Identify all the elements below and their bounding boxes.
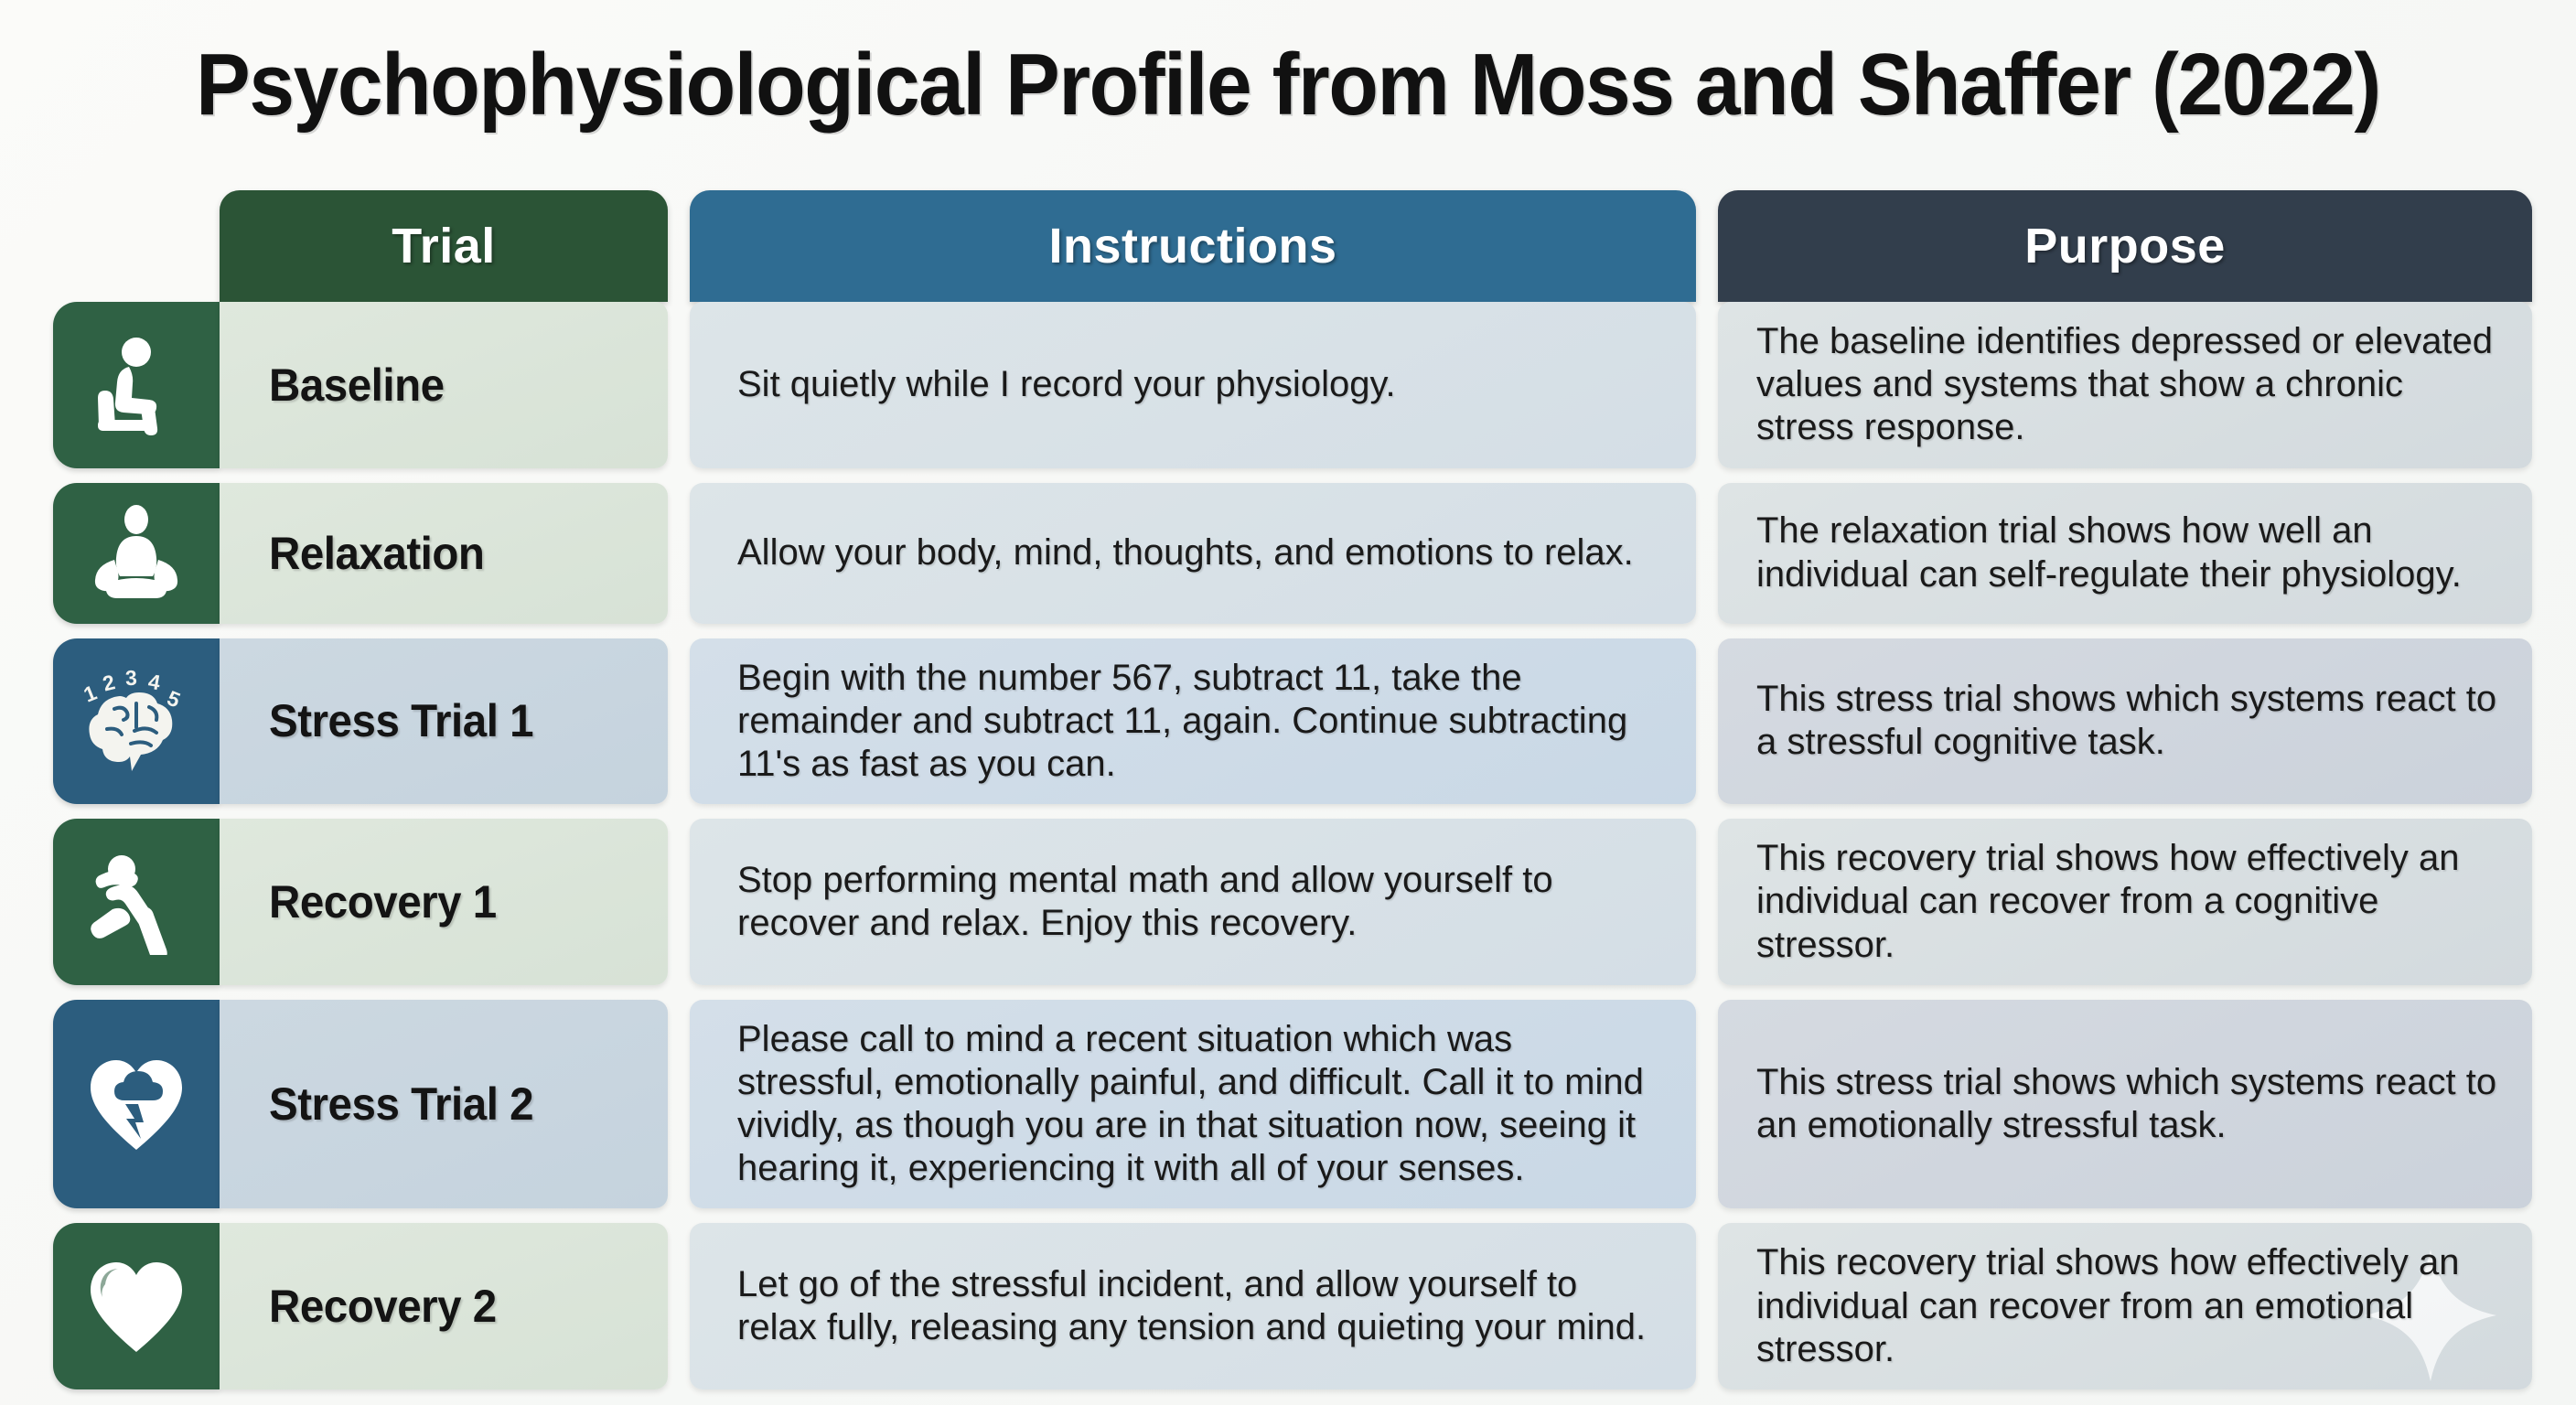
cell-gap	[1696, 1223, 1718, 1389]
instructions-cell: Sit quietly while I record your physiolo…	[690, 302, 1696, 468]
heart-storm-icon	[53, 1000, 220, 1209]
svg-text:3: 3	[124, 666, 137, 691]
trial-label-cell: Baseline	[220, 302, 668, 468]
brain-counting-icon: 1 2 3 4 5	[53, 638, 220, 805]
table-row: Relaxation Allow your body, mind, though…	[53, 483, 2532, 624]
trial-label-cell: Relaxation	[220, 483, 668, 624]
table-row: Stress Trial 2 Please call to mind a rec…	[53, 1000, 2532, 1209]
instructions-text: Stop performing mental math and allow yo…	[737, 859, 1665, 945]
purpose-text: This recovery trial shows how effectivel…	[1756, 1241, 2501, 1371]
column-header-trial: Trial	[220, 190, 668, 302]
page-title: Psychophysiological Profile from Moss an…	[91, 35, 2486, 135]
trial-label-cell: Recovery 1	[220, 819, 668, 985]
instructions-cell: Let go of the stressful incident, and al…	[690, 1223, 1696, 1389]
instructions-cell: Stop performing mental math and allow yo…	[690, 819, 1696, 985]
purpose-text: The baseline identifies depressed or ele…	[1756, 320, 2501, 450]
purpose-cell: This stress trial shows which systems re…	[1718, 638, 2532, 805]
trial-name: Relaxation	[269, 527, 484, 580]
meditating-person-icon	[53, 483, 220, 624]
purpose-cell: This recovery trial shows how effectivel…	[1718, 1223, 2532, 1389]
cell-gap	[1696, 1000, 1718, 1209]
trial-name: Stress Trial 1	[269, 694, 533, 747]
purpose-text: This recovery trial shows how effectivel…	[1756, 837, 2501, 967]
trial-name: Recovery 2	[269, 1280, 497, 1333]
instructions-text: Begin with the number 567, subtract 11, …	[737, 657, 1665, 787]
trial-name: Recovery 1	[269, 875, 497, 928]
cell-gap	[668, 1000, 690, 1209]
heart-icon	[53, 1223, 220, 1389]
cell-gap	[668, 302, 690, 468]
purpose-text: This stress trial shows which systems re…	[1756, 1061, 2501, 1147]
purpose-cell: This recovery trial shows how effectivel…	[1718, 819, 2532, 985]
cell-gap	[1696, 483, 1718, 624]
table-body: Baseline Sit quietly while I record your…	[0, 302, 2576, 1389]
table-row: Recovery 1 Stop performing mental math a…	[53, 819, 2532, 985]
trial-name: Stress Trial 2	[269, 1078, 533, 1131]
instructions-text: Sit quietly while I record your physiolo…	[737, 363, 1396, 406]
instructions-text: Let go of the stressful incident, and al…	[737, 1263, 1665, 1349]
trial-label-cell: Stress Trial 2	[220, 1000, 668, 1209]
table-row: Baseline Sit quietly while I record your…	[53, 302, 2532, 468]
infographic-page: Psychophysiological Profile from Moss an…	[0, 0, 2576, 1405]
reclining-person-icon	[53, 819, 220, 985]
purpose-cell: This stress trial shows which systems re…	[1718, 1000, 2532, 1209]
instructions-text: Allow your body, mind, thoughts, and emo…	[737, 531, 1634, 574]
table-row: 1 2 3 4 5	[53, 638, 2532, 805]
svg-text:1: 1	[80, 681, 101, 707]
purpose-text: The relaxation trial shows how well an i…	[1756, 509, 2501, 595]
purpose-cell: The relaxation trial shows how well an i…	[1718, 483, 2532, 624]
cell-gap	[668, 819, 690, 985]
instructions-text: Please call to mind a recent situation w…	[737, 1018, 1665, 1191]
cell-gap	[668, 483, 690, 624]
instructions-cell: Begin with the number 567, subtract 11, …	[690, 638, 1696, 805]
column-header-purpose: Purpose	[1718, 190, 2532, 302]
column-header-instructions: Instructions	[690, 190, 1696, 302]
svg-text:5: 5	[164, 686, 184, 713]
trials-table: Trial Instructions Purpose	[0, 190, 2576, 1404]
instructions-cell: Please call to mind a recent situation w…	[690, 1000, 1696, 1209]
trial-label-cell: Stress Trial 1	[220, 638, 668, 805]
seated-person-icon	[53, 302, 220, 468]
cell-gap	[1696, 638, 1718, 805]
instructions-cell: Allow your body, mind, thoughts, and emo…	[690, 483, 1696, 624]
cell-gap	[668, 1223, 690, 1389]
purpose-cell: The baseline identifies depressed or ele…	[1718, 302, 2532, 468]
purpose-text: This stress trial shows which systems re…	[1756, 678, 2501, 764]
cell-gap	[1696, 819, 1718, 985]
trial-name: Baseline	[269, 359, 445, 412]
svg-text:2: 2	[100, 670, 117, 696]
cell-gap	[1696, 302, 1718, 468]
table-header-row: Trial Instructions Purpose	[0, 190, 2576, 302]
trial-label-cell: Recovery 2	[220, 1223, 668, 1389]
cell-gap	[668, 638, 690, 805]
svg-text:4: 4	[146, 670, 162, 695]
table-row: Recovery 2 Let go of the stressful incid…	[53, 1223, 2532, 1389]
